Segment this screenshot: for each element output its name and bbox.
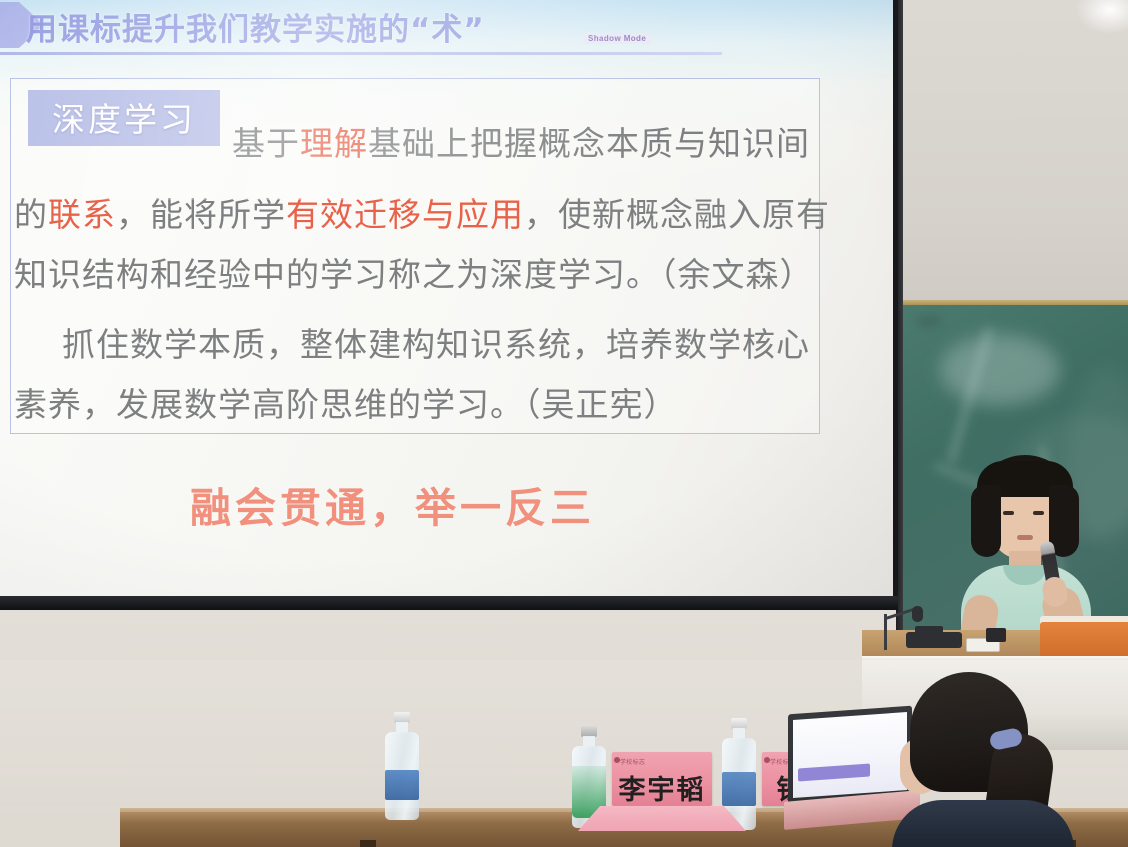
shadow-mode-watermark: Shadow Mode [583, 33, 651, 44]
clicker [986, 628, 1006, 642]
audience-member [880, 672, 1080, 847]
nameplate-name: 李宇韬 [612, 768, 712, 807]
projection-screen: 用课标提升我们教学实施的“术” Shadow Mode 深度学习 基于理解基础上… [0, 0, 893, 600]
classroom-photo: 用课标提升我们教学实施的“术” Shadow Mode 深度学习 基于理解基础上… [0, 0, 1128, 847]
projection-screen-bottom-bar [0, 596, 898, 610]
body-text-run: 素养，发展数学高阶思维的学习。（吴正宪） [14, 385, 678, 424]
accent-text-run: 有效迁移与应用 [286, 195, 524, 234]
presenter-hair-left [971, 485, 1001, 557]
body-text-run: 基础上把握概念本质与知识间 [368, 124, 810, 163]
table-leg [360, 840, 376, 847]
body-text-run: 基于 [232, 124, 300, 163]
nameplate-logo-text: 学校标志 [620, 757, 645, 766]
slide-body-line-1: 基于理解基础上把握概念本质与知识间 [232, 117, 810, 165]
slide-tag-label: 深度学习 [52, 93, 196, 141]
accent-text-run: 理解 [300, 124, 368, 163]
body-text-run: ，能将所学 [116, 195, 286, 234]
body-text-run: 的 [14, 195, 48, 234]
presenter-mouth [1017, 535, 1033, 540]
slide-punchline: 融会贯通，举一反三 [190, 474, 595, 534]
slide-body-line-4: 抓住数学本质，整体建构知识系统，培养数学核心 [62, 318, 810, 366]
wall-light-glare [1075, 0, 1128, 34]
slide-surface: 用课标提升我们教学实施的“术” Shadow Mode 深度学习 基于理解基础上… [0, 0, 893, 600]
title-underline [0, 52, 722, 55]
accent-text-run: 联系 [48, 195, 116, 234]
body-text-run: ，使新概念融入原有 [524, 195, 830, 234]
boom-microphone-icon [912, 606, 923, 622]
slide-body-line-3: 知识结构和经验中的学习称之为深度学习。（余文森） [14, 248, 814, 296]
body-text-run: 知识结构和经验中的学习称之为深度学习。（余文森） [14, 255, 814, 294]
camera-lens [906, 632, 962, 648]
audience-shoulders [892, 800, 1074, 847]
slide-body-line-2: 的联系，能将所学有效迁移与应用，使新概念融入原有 [14, 188, 830, 236]
slide-title: 用课标提升我们教学实施的“术” [26, 4, 485, 49]
slide-tag-badge: 深度学习 [28, 90, 220, 146]
slide-body-line-5: 素养，发展数学高阶思维的学习。（吴正宪） [14, 378, 678, 426]
upper-right-wall [900, 0, 1128, 310]
body-text-run: 抓住数学本质，整体建构知识系统，培养数学核心 [62, 325, 810, 364]
